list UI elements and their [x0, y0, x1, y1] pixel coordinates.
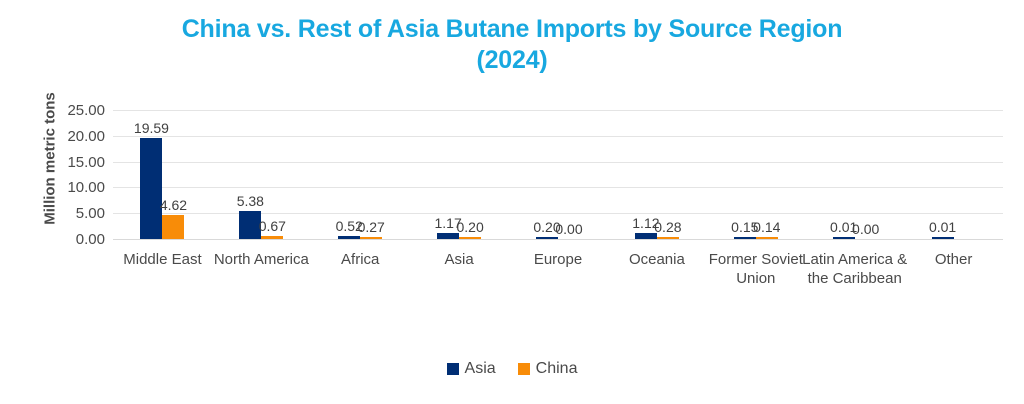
y-axis-tick-label: 0.00 — [39, 232, 105, 247]
bars: 0.520.27 — [311, 104, 410, 239]
bar-value-label: 0.67 — [259, 219, 286, 234]
legend-swatch-icon — [518, 363, 530, 375]
bars: 0.200.00 — [509, 104, 608, 239]
x-axis-category-label: Asia — [404, 250, 515, 269]
bar-asia[interactable]: 0.01 — [932, 237, 954, 239]
bar-china[interactable]: 0.14 — [756, 237, 778, 239]
y-axis-tick-label: 15.00 — [39, 155, 105, 170]
x-axis-category-label: North America — [206, 250, 317, 269]
bars: 0.010.00 — [805, 104, 904, 239]
bar-china[interactable]: 0.20 — [459, 237, 481, 239]
bar-value-label: 19.59 — [134, 121, 169, 136]
bar-asia[interactable]: 0.52 — [338, 236, 360, 239]
bar-group: 1.170.20Asia — [410, 104, 509, 344]
bar-value-label: 4.62 — [160, 198, 187, 213]
chart-title-line-2: (2024) — [476, 46, 547, 74]
bar-value-label: 0.00 — [852, 222, 879, 237]
x-axis-category-label: Other — [898, 250, 1009, 269]
chart-legend: AsiaChina — [0, 361, 1024, 377]
bar-value-label: 0.00 — [555, 222, 582, 237]
bar-groups: 19.594.62Middle East5.380.67North Americ… — [113, 104, 1003, 344]
bar-value-label: 0.20 — [456, 220, 483, 235]
bars: 0.01 — [904, 104, 1003, 239]
x-axis-category-label: Europe — [503, 250, 614, 269]
bar-china[interactable]: 0.27 — [360, 237, 382, 239]
y-axis-tick-label: 5.00 — [39, 206, 105, 221]
legend-item-asia[interactable]: Asia — [447, 361, 496, 377]
bar-group: 0.01Other — [904, 104, 1003, 344]
x-axis-category-label: Oceania — [601, 250, 712, 269]
bars: 0.150.14 — [706, 104, 805, 239]
bar-asia[interactable]: 0.15 — [734, 237, 756, 239]
bar-china[interactable]: 4.62 — [162, 215, 184, 239]
x-axis-category-label: Former Soviet Union — [700, 250, 811, 288]
bar-group: 0.010.00Latin America & the Caribbean — [805, 104, 904, 344]
bar-value-label: 0.14 — [753, 220, 780, 235]
bar-china[interactable]: 0.28 — [657, 237, 679, 239]
bar-value-label: 0.27 — [358, 220, 385, 235]
legend-swatch-icon — [447, 363, 459, 375]
y-axis-tick-label: 10.00 — [39, 180, 105, 195]
bar-china[interactable]: 0.67 — [261, 236, 283, 239]
bar-value-label: 5.38 — [237, 194, 264, 209]
bars: 1.170.20 — [410, 104, 509, 239]
x-axis-category-label: Africa — [305, 250, 416, 269]
chart-title: China vs. Rest of Asia Butane Imports by… — [60, 14, 964, 76]
bar-value-label: 0.28 — [654, 220, 681, 235]
bar-group: 19.594.62Middle East — [113, 104, 212, 344]
x-axis-category-label: Latin America & the Caribbean — [799, 250, 910, 288]
bar-chart: China vs. Rest of Asia Butane Imports by… — [0, 0, 1024, 404]
y-axis-tick-labels: 25.0020.0015.0010.005.000.00 — [37, 110, 105, 239]
bar-asia[interactable]: 0.01 — [833, 237, 855, 239]
bar-group: 0.200.00Europe — [509, 104, 608, 344]
legend-label: Asia — [465, 361, 496, 377]
chart-title-line-1: China vs. Rest of Asia Butane Imports by… — [182, 15, 843, 43]
bar-group: 1.120.28Oceania — [607, 104, 706, 344]
bar-group: 0.520.27Africa — [311, 104, 410, 344]
x-axis-category-label: Middle East — [107, 250, 218, 269]
legend-item-china[interactable]: China — [518, 361, 578, 377]
y-axis-tick-label: 20.00 — [39, 129, 105, 144]
bars: 19.594.62 — [113, 104, 212, 239]
bar-group: 5.380.67North America — [212, 104, 311, 344]
bars: 1.120.28 — [607, 104, 706, 239]
bar-value-label: 0.01 — [929, 220, 956, 235]
bar-asia[interactable]: 19.59 — [140, 138, 162, 239]
bars: 5.380.67 — [212, 104, 311, 239]
legend-label: China — [536, 361, 578, 377]
y-axis-tick-label: 25.00 — [39, 103, 105, 118]
bar-group: 0.150.14Former Soviet Union — [706, 104, 805, 344]
bar-asia[interactable]: 0.20 — [536, 237, 558, 239]
